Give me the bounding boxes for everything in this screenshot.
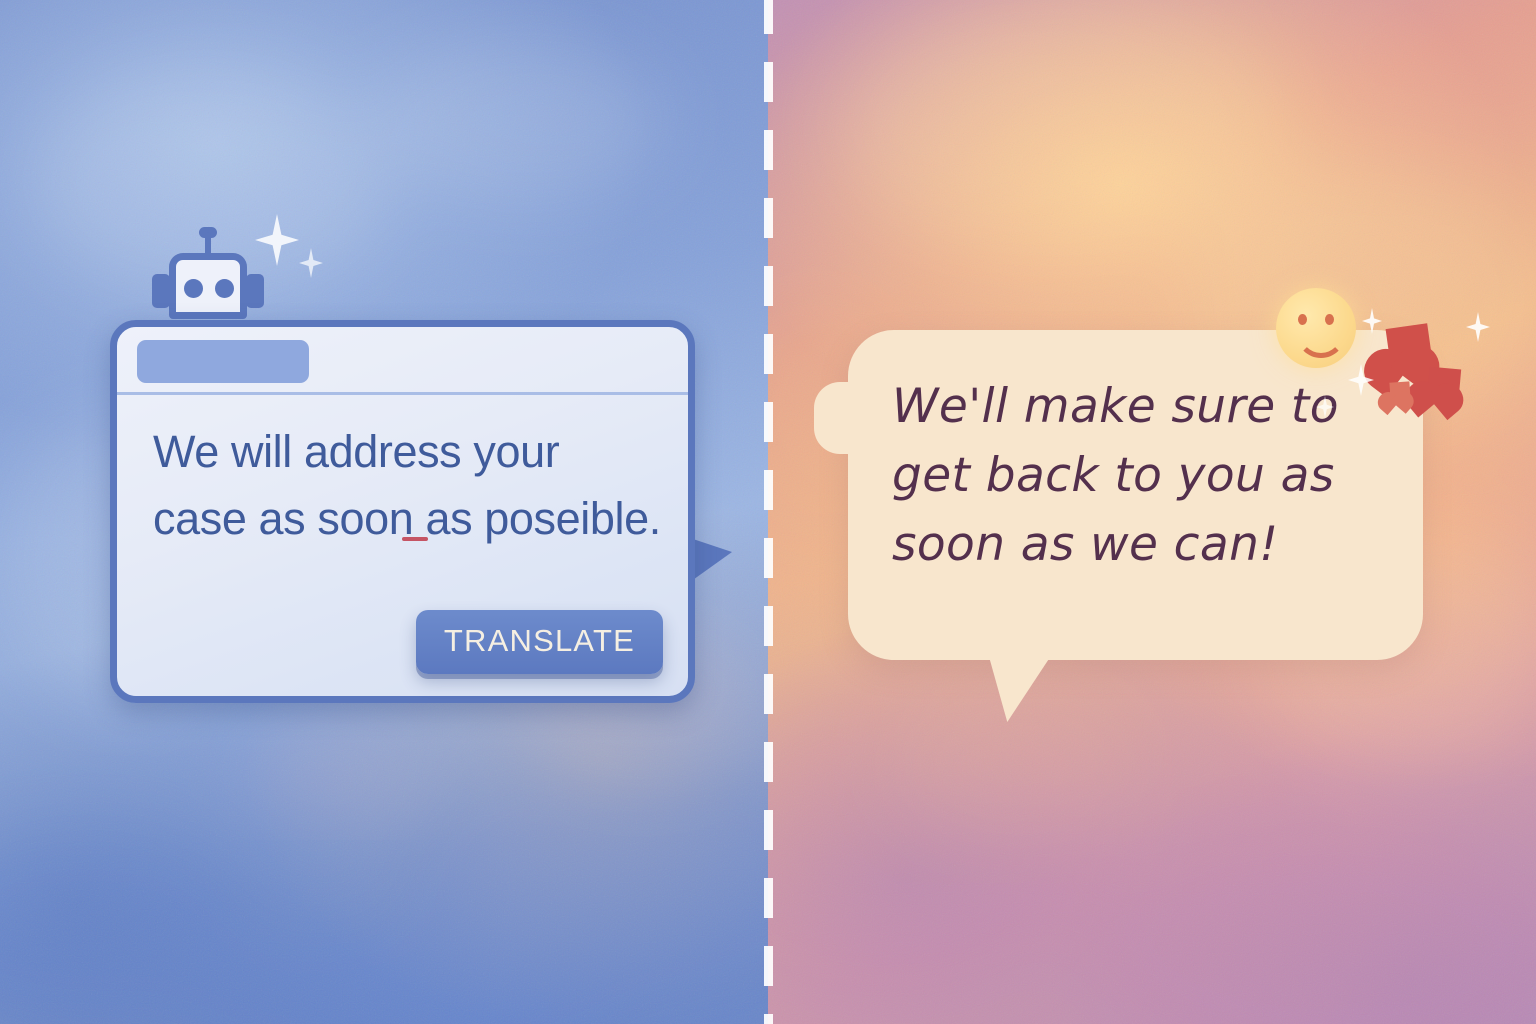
heart-icon	[1386, 323, 1433, 366]
smiley-face-icon	[1276, 288, 1356, 368]
window-body: We will address your case as soon as pos…	[117, 395, 688, 696]
robot-head-icon	[152, 232, 264, 328]
illustration-canvas: We will address your case as soon as pos…	[0, 0, 1536, 1024]
center-dashed-divider	[764, 0, 773, 1024]
robot-message-text: We will address your case as soon as pos…	[153, 419, 673, 552]
window-speech-tail	[690, 538, 732, 582]
robot-translation-window: We will address your case as soon as pos…	[110, 320, 695, 703]
human-speech-bubble: We'll make sure to get back to you as so…	[848, 330, 1423, 660]
robot-face-icon	[169, 253, 247, 319]
human-message-text: We'll make sure to get back to you as so…	[892, 372, 1392, 579]
titlebar-chip[interactable]	[137, 340, 309, 383]
bubble-left-nub	[814, 382, 866, 454]
heart-icon	[1389, 381, 1410, 400]
robot-right-ear-icon	[246, 274, 264, 308]
translate-button[interactable]: TRANSLATE	[416, 610, 663, 674]
window-titlebar	[117, 327, 688, 395]
smiley-mouth	[1296, 324, 1346, 358]
robot-left-ear-icon	[152, 274, 170, 308]
heart-icon	[1427, 367, 1461, 399]
spellcheck-typo-mark	[402, 537, 428, 541]
robot-left-eye-icon	[184, 279, 203, 298]
robot-right-eye-icon	[215, 279, 234, 298]
